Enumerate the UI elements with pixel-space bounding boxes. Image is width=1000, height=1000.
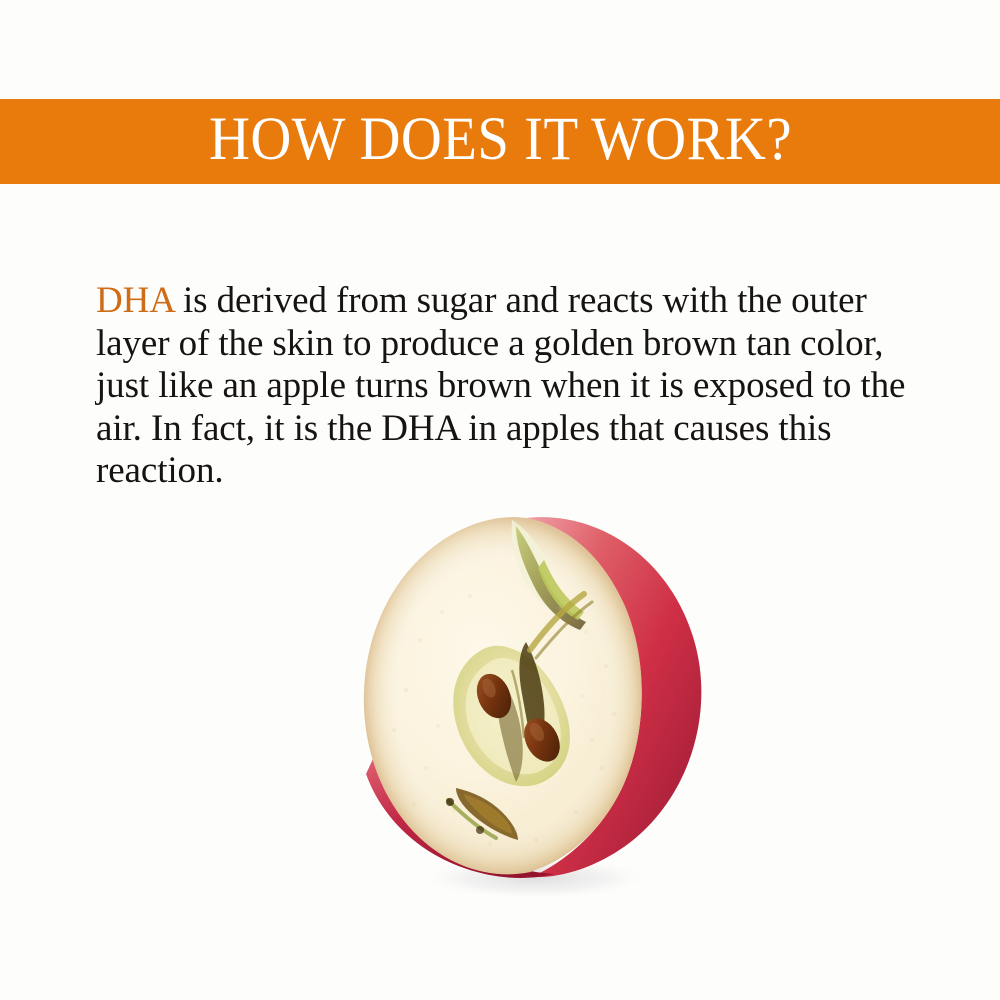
apple-illustration — [330, 500, 730, 900]
page-title: HOW DOES IT WORK? — [208, 109, 791, 174]
poster-page: HOW DOES IT WORK? DHA is derived from su… — [0, 0, 1000, 1000]
header-band: HOW DOES IT WORK? — [0, 99, 1000, 184]
apple-calyx-dot-2 — [476, 826, 484, 834]
body-paragraph-rest: is derived from sugar and reacts with th… — [96, 280, 905, 491]
body-paragraph: DHA is derived from sugar and reacts wit… — [96, 280, 926, 493]
halved-apple-graphic — [330, 500, 730, 900]
apple-calyx-dot — [446, 798, 454, 806]
dha-highlight: DHA — [96, 280, 174, 321]
